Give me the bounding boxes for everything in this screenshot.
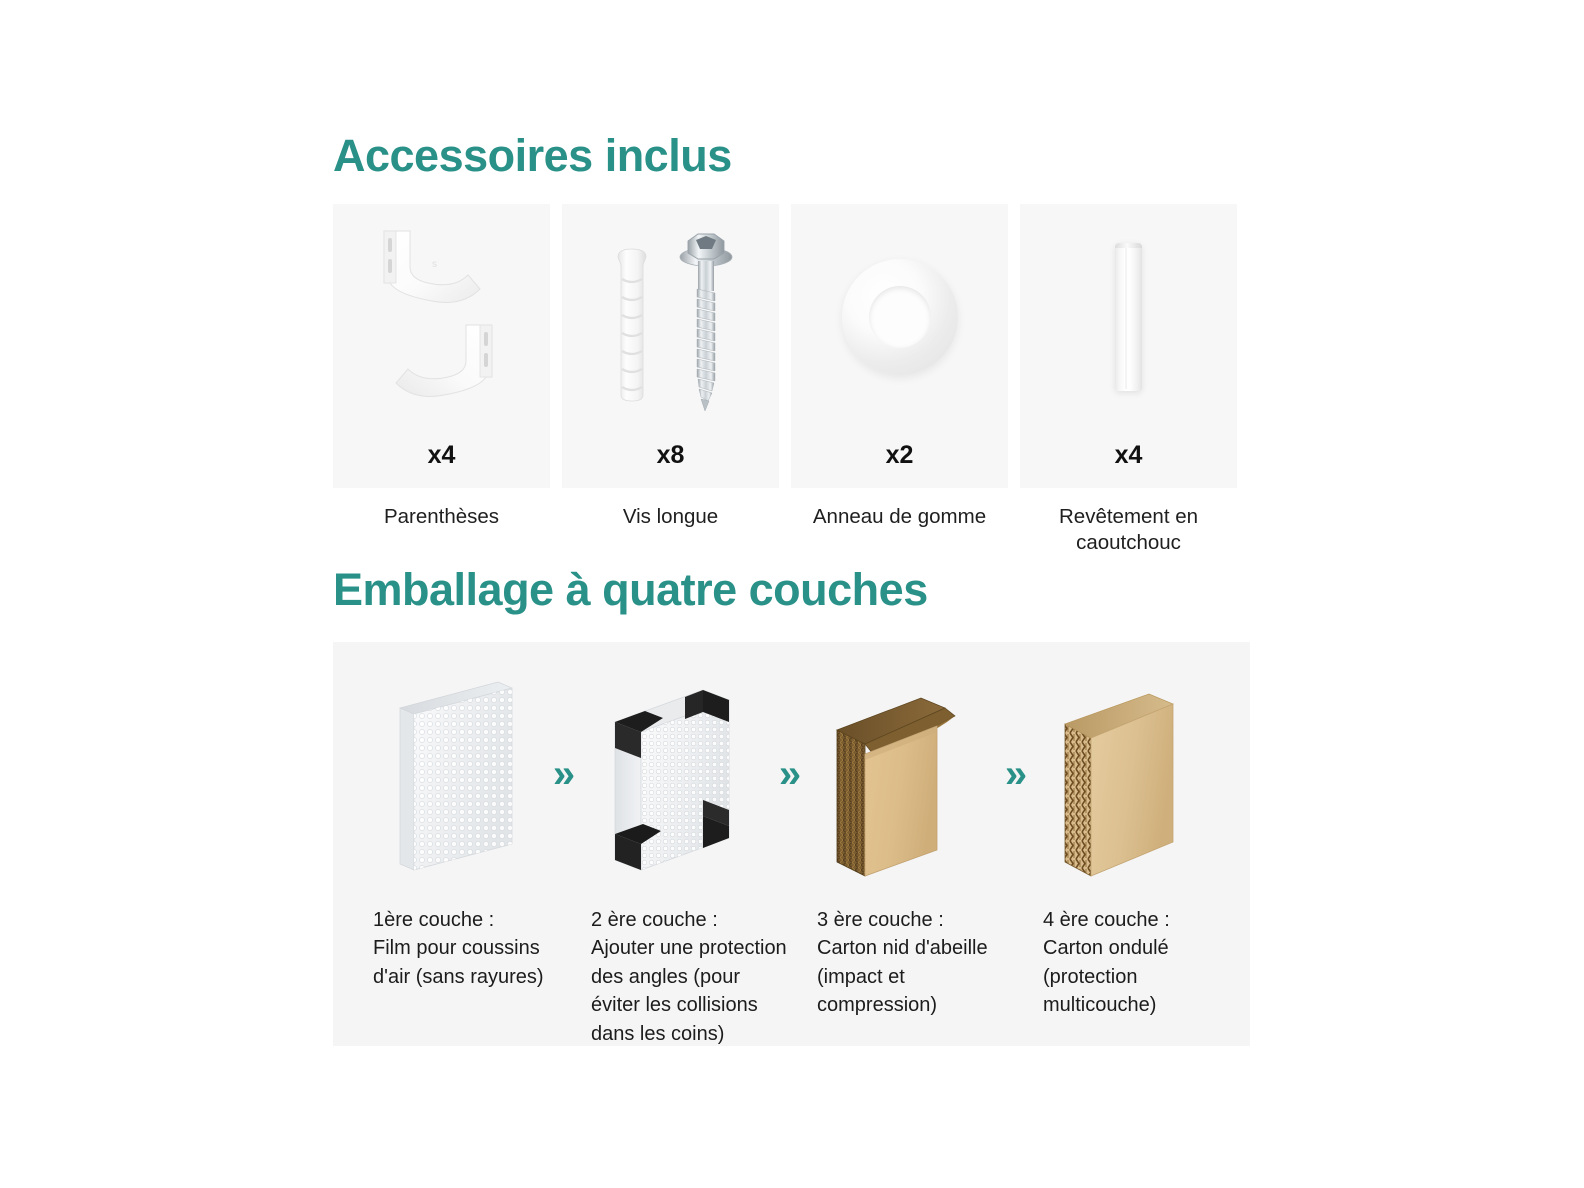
bubble-wrap-panel-icon bbox=[386, 672, 526, 882]
infographic-page: Accessoires inclus bbox=[0, 0, 1584, 1188]
accessory-caption: Revêtement en caoutchouc bbox=[1024, 504, 1234, 556]
packaging-steps: 1ère couche : Film pour coussins d'air (… bbox=[333, 642, 1250, 1046]
packaging-step-lead: 4 ère couche : bbox=[1043, 906, 1243, 934]
rubber-ring-hole bbox=[869, 286, 931, 348]
accessory-image: s bbox=[333, 204, 550, 430]
accessory-image bbox=[562, 204, 779, 430]
bubble-wrap-with-corner-protectors-icon bbox=[599, 670, 749, 885]
accessory-caption: Parenthèses bbox=[337, 504, 547, 530]
packaging-step-1: 1ère couche : Film pour coussins d'air (… bbox=[351, 642, 561, 1046]
wall-anchor-and-screw-icon bbox=[596, 217, 746, 417]
packaging-step-body: Carton nid d'abeille (impact et compress… bbox=[817, 937, 988, 1016]
accessory-quantity: x2 bbox=[791, 441, 1008, 470]
accessory-card: x4 bbox=[1020, 204, 1237, 488]
accessory-image bbox=[791, 204, 1008, 430]
packaging-step-text: 1ère couche : Film pour coussins d'air (… bbox=[373, 906, 573, 991]
accessory-item-brackets: s bbox=[333, 204, 550, 556]
corrugated-cardboard-panel-icon bbox=[1051, 670, 1201, 885]
packaging-step-body: Film pour coussins d'air (sans rayures) bbox=[373, 937, 544, 987]
accessory-caption: Vis longue bbox=[566, 504, 776, 530]
packaging-step-lead: 2 ère couche : bbox=[591, 906, 791, 934]
honeycomb-cardboard-panel-icon bbox=[825, 670, 975, 885]
packaging-section-title: Emballage à quatre couches bbox=[333, 564, 928, 616]
packaging-step-body: Ajouter une protection des angles (pour … bbox=[591, 937, 787, 1044]
accessory-card: s bbox=[333, 204, 550, 488]
packaging-step-3: 3 ère couche : Carton nid d'abeille (imp… bbox=[795, 642, 1005, 1046]
packaging-step-lead: 3 ère couche : bbox=[817, 906, 1017, 934]
accessory-card: x2 bbox=[791, 204, 1008, 488]
accessories-grid: s bbox=[333, 204, 1250, 556]
accessory-item-rubber-coating: x4 Revêtement en caoutchouc bbox=[1020, 204, 1237, 556]
svg-text:s: s bbox=[432, 259, 437, 270]
accessory-caption: Anneau de gomme bbox=[795, 504, 1005, 530]
wall-bracket-pair-icon: s bbox=[362, 217, 522, 417]
rubber-ring-icon bbox=[842, 259, 958, 375]
packaging-step-lead: 1ère couche : bbox=[373, 906, 573, 934]
packaging-step-image bbox=[1021, 652, 1231, 902]
packaging-step-image bbox=[569, 652, 779, 902]
packaging-step-2: 2 ère couche : Ajouter une protection de… bbox=[569, 642, 779, 1046]
accessory-quantity: x4 bbox=[1020, 441, 1237, 470]
accessory-item-screws: x8 Vis longue bbox=[562, 204, 779, 556]
rubber-sleeve-icon bbox=[1115, 243, 1142, 391]
accessory-quantity: x4 bbox=[333, 441, 550, 470]
accessories-section-title: Accessoires inclus bbox=[333, 130, 732, 182]
accessory-item-rubber-ring: x2 Anneau de gomme bbox=[791, 204, 1008, 556]
packaging-step-body: Carton ondulé (protection multicouche) bbox=[1043, 937, 1169, 1016]
packaging-panel: 1ère couche : Film pour coussins d'air (… bbox=[333, 642, 1250, 1046]
packaging-step-text: 2 ère couche : Ajouter une protection de… bbox=[591, 906, 791, 1048]
accessory-quantity: x8 bbox=[562, 441, 779, 470]
accessory-image bbox=[1020, 204, 1237, 430]
packaging-step-4: 4 ère couche : Carton ondulé (protection… bbox=[1021, 642, 1231, 1046]
packaging-step-image bbox=[795, 652, 1005, 902]
accessory-card: x8 bbox=[562, 204, 779, 488]
packaging-step-text: 3 ère couche : Carton nid d'abeille (imp… bbox=[817, 906, 1017, 1020]
packaging-step-image bbox=[351, 652, 561, 902]
packaging-step-text: 4 ère couche : Carton ondulé (protection… bbox=[1043, 906, 1243, 1020]
